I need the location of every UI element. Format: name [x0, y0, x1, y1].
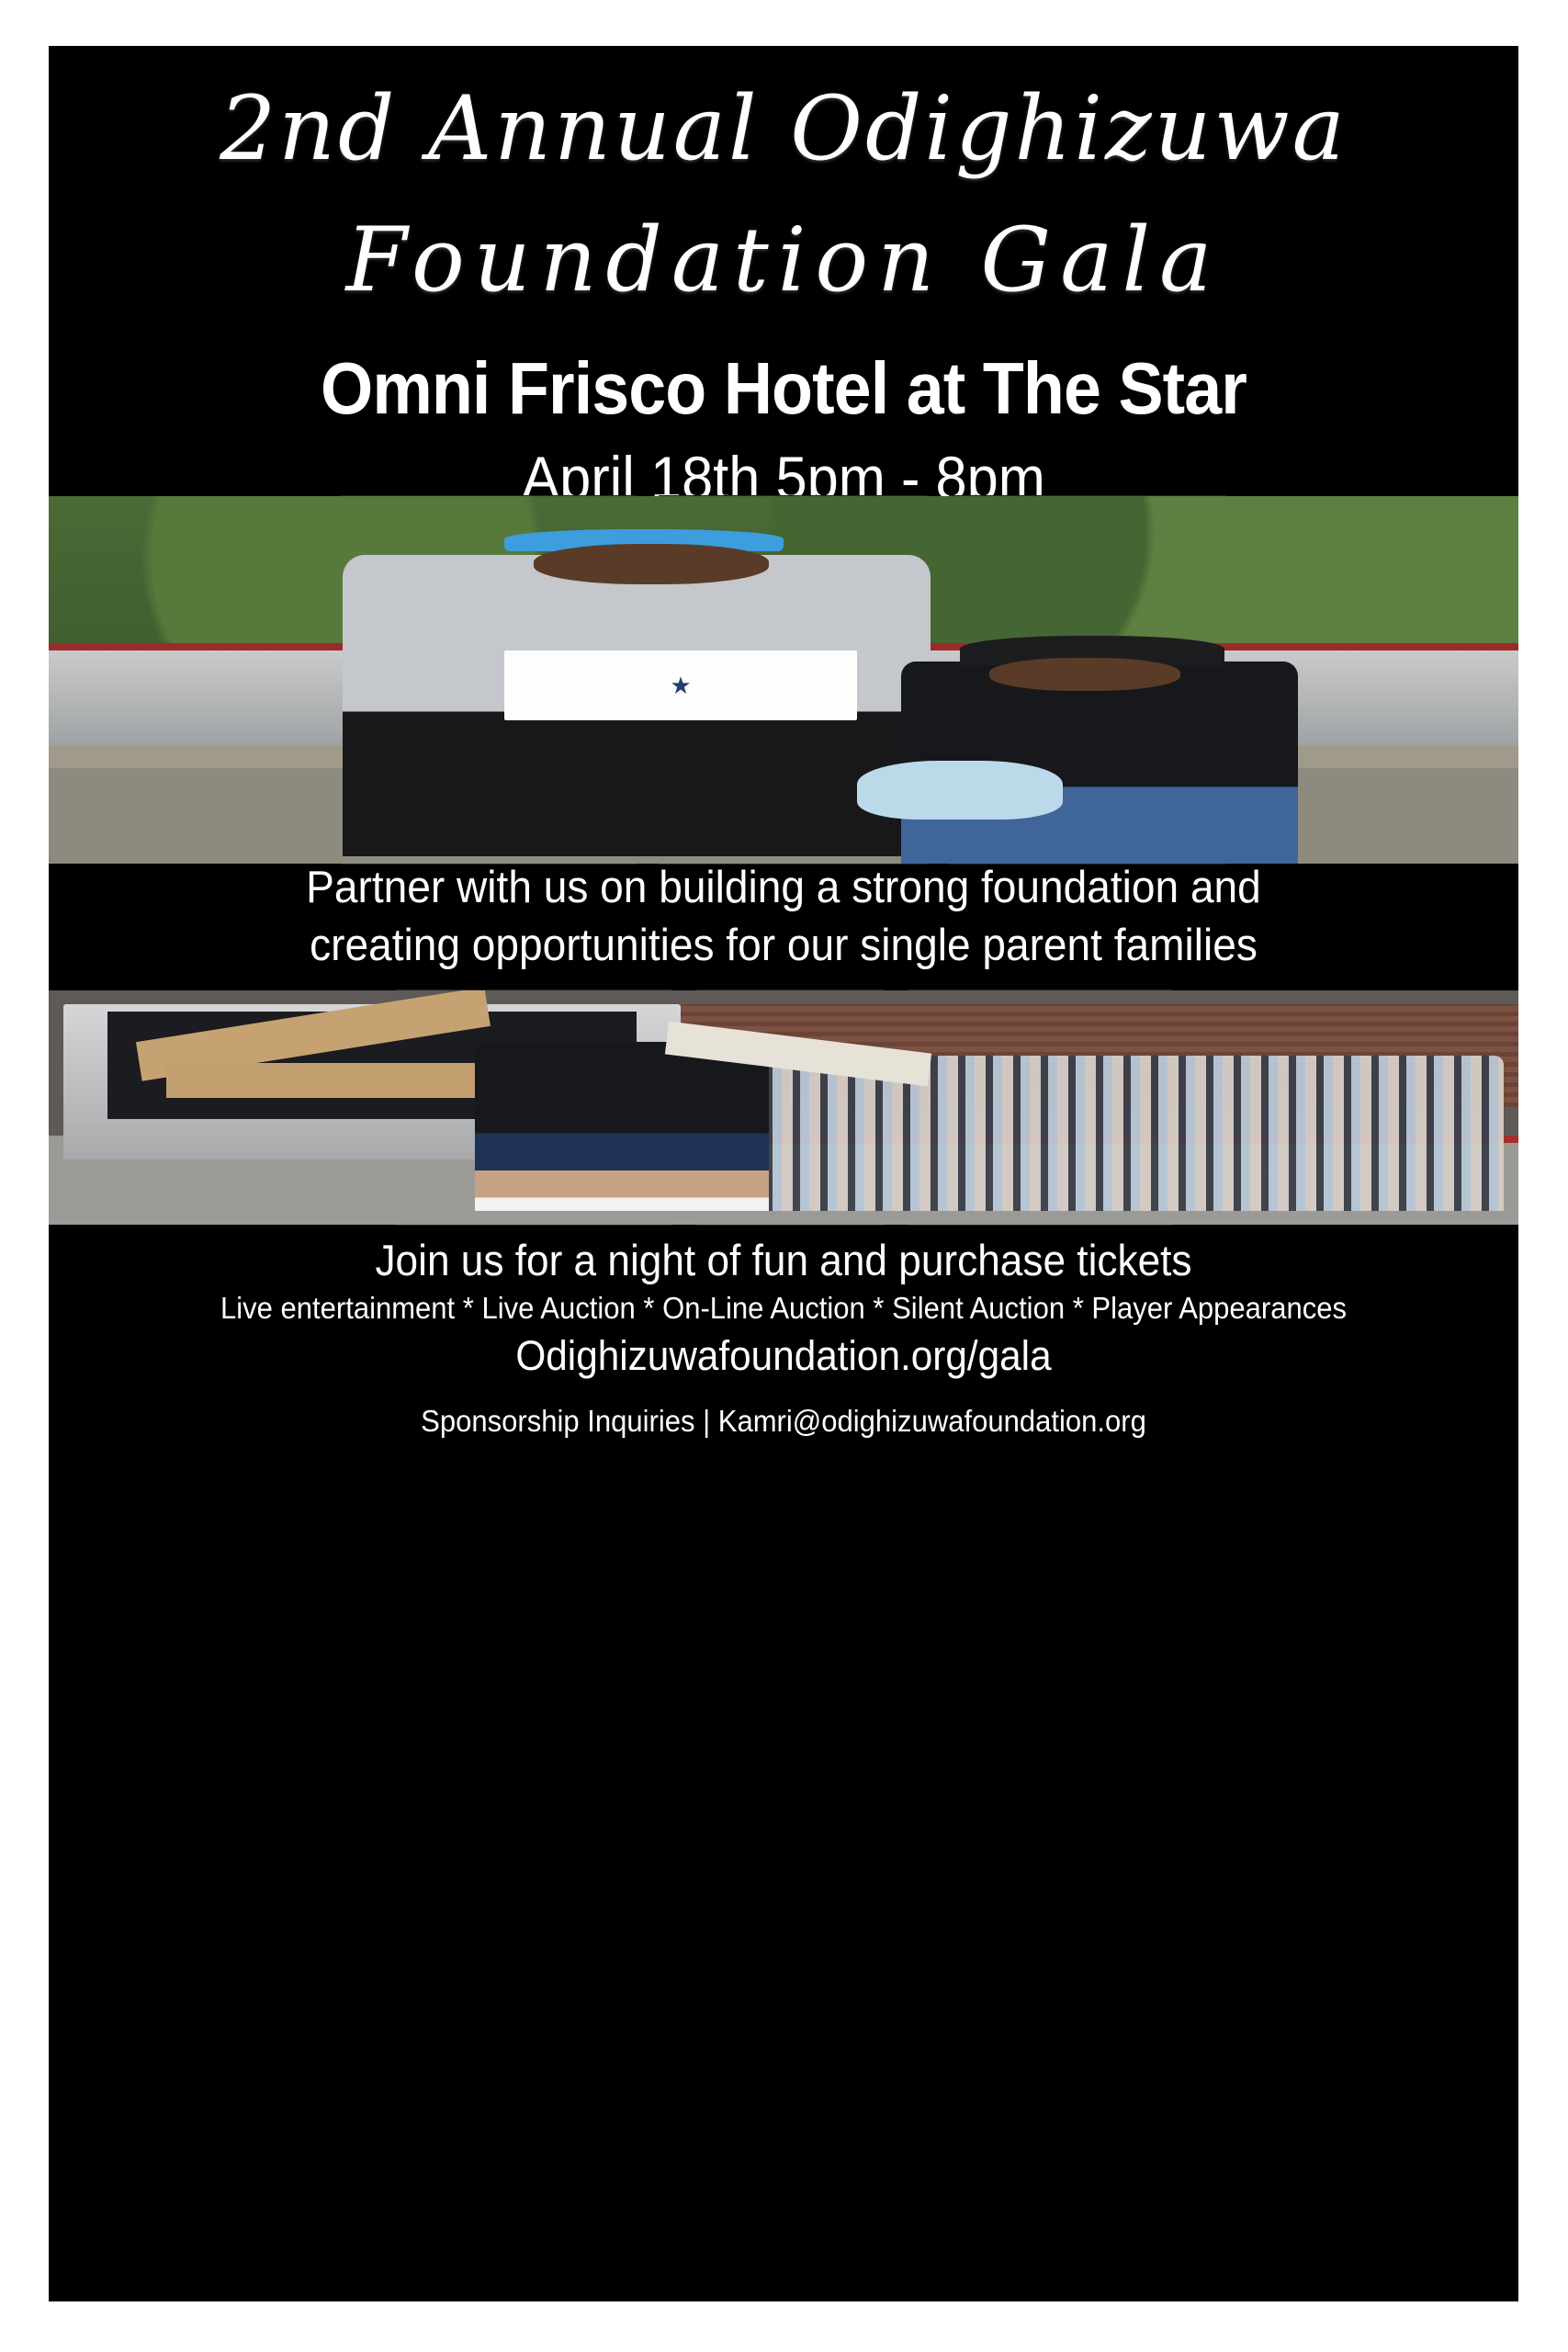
flyer-headline: 2nd Annual Odighizuwa Foundation Gala	[49, 83, 1518, 307]
sponsorship-inquiries-line[interactable]: Sponsorship Inquiries | Kamri@odighizuwa…	[93, 1404, 1474, 1439]
man-face-graphic	[534, 544, 769, 584]
tagline-line-1: Partner with us on building a strong fou…	[93, 859, 1474, 917]
ticket-website-link[interactable]: Odighizuwafoundation.org/gala	[93, 1332, 1474, 1380]
headline-line-2: Foundation Gala	[49, 214, 1518, 307]
auction-highlights-line: Live entertainment * Live Auction * On-L…	[93, 1291, 1474, 1326]
photo-truck-unloading	[49, 990, 1518, 1225]
join-us-line: Join us for a night of fun and purchase …	[93, 1235, 1474, 1285]
photo-frame-truck-unloading	[909, 990, 1171, 1225]
tagline-line-2: creating opportunities for our single pa…	[93, 917, 1474, 975]
waiting-families-graphic	[754, 1056, 1504, 1210]
boy-face-graphic	[989, 658, 1180, 691]
venue-name: Omni Frisco Hotel at The Star	[107, 346, 1460, 431]
cardboard-box-graphic	[166, 1063, 490, 1098]
photo-frame-thank-you-sign: ★	[950, 496, 1225, 864]
headline-line-1: 2nd Annual Odighizuwa	[49, 83, 1518, 175]
cowboys-star-icon: ★	[670, 673, 691, 697]
event-flyer-poster: 2nd Annual Odighizuwa Foundation Gala Om…	[49, 46, 1518, 2301]
photo-gallery-top: ★	[49, 496, 1518, 864]
photo-mat: ★	[959, 505, 1216, 854]
photo-gallery-bottom	[49, 990, 1518, 1225]
thank-you-sign-graphic: ★	[504, 650, 857, 720]
volunteer-graphic	[475, 1042, 769, 1211]
turkey-bag-graphic	[857, 761, 1063, 820]
photo-mat	[919, 1000, 1162, 1216]
photo-thank-you-sign: ★	[49, 496, 1518, 864]
mission-tagline: Partner with us on building a strong fou…	[93, 859, 1474, 974]
